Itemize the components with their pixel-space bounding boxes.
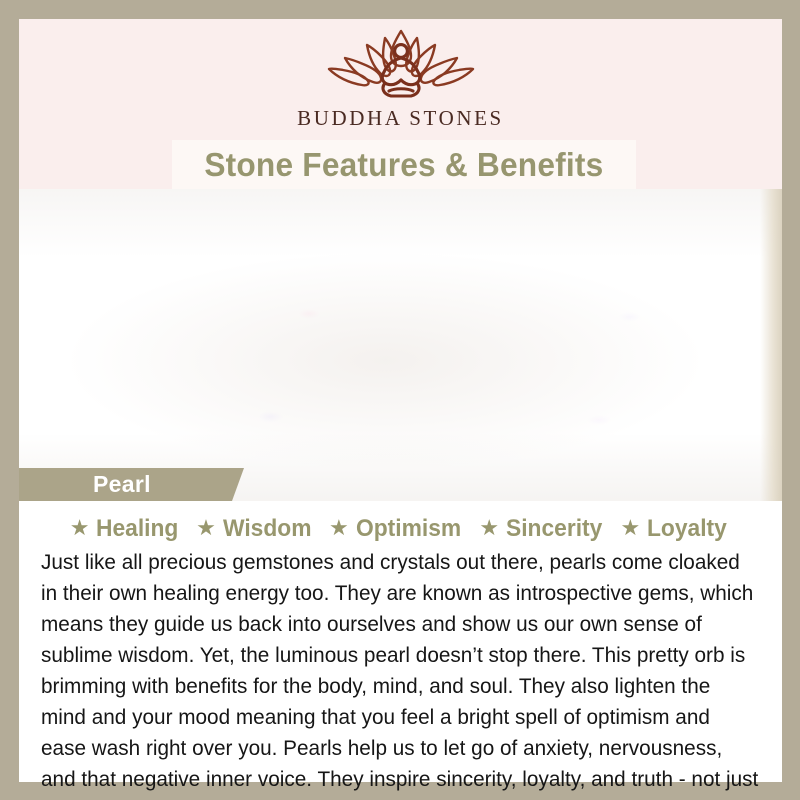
star-icon: ★ bbox=[329, 517, 349, 539]
benefit-label: Wisdom bbox=[223, 515, 311, 543]
lotus-meditation-figure-icon bbox=[315, 25, 487, 105]
frame-left-strip bbox=[0, 0, 19, 782]
brand-wordmark: BUDDHA STONES bbox=[297, 106, 504, 131]
star-icon: ★ bbox=[70, 517, 90, 539]
star-icon: ★ bbox=[196, 517, 216, 539]
benefits-row: ★ Healing ★ Wisdom ★ Optimism ★ Sincerit… bbox=[41, 515, 760, 543]
title-card: Stone Features & Benefits bbox=[172, 140, 636, 189]
benefit-item-healing: ★ Healing bbox=[70, 515, 183, 543]
stone-description: Just like all precious gemstones and cry… bbox=[41, 547, 760, 800]
benefit-label: Loyalty bbox=[647, 515, 727, 543]
benefit-label: Sincerity bbox=[506, 515, 602, 543]
star-icon: ★ bbox=[621, 517, 641, 539]
content-panel: ★ Healing ★ Wisdom ★ Optimism ★ Sincerit… bbox=[19, 501, 782, 782]
brand-logo-block: BUDDHA STONES bbox=[19, 19, 782, 141]
frame-right-strip bbox=[782, 0, 800, 800]
stone-name-tag: Pearl bbox=[19, 468, 244, 501]
poster-root: BUDDHA STONES Stone Features & Benefits … bbox=[0, 0, 800, 800]
hero-photo-container bbox=[19, 189, 782, 501]
page-title: Stone Features & Benefits bbox=[204, 146, 603, 184]
star-icon: ★ bbox=[479, 517, 499, 539]
stone-name-label: Pearl bbox=[93, 471, 151, 498]
page-surface: BUDDHA STONES Stone Features & Benefits … bbox=[19, 19, 782, 782]
pearl-photo-shading bbox=[19, 189, 782, 501]
benefit-item-sincerity: ★ Sincerity bbox=[479, 515, 607, 543]
benefit-label: Optimism bbox=[356, 515, 461, 543]
benefit-item-loyalty: ★ Loyalty bbox=[621, 515, 732, 543]
benefit-item-wisdom: ★ Wisdom bbox=[196, 515, 316, 543]
frame-top-band bbox=[215, 0, 800, 19]
hero-right-fade bbox=[760, 189, 782, 501]
benefit-item-optimism: ★ Optimism bbox=[329, 515, 466, 543]
benefit-label: Healing bbox=[96, 515, 178, 543]
